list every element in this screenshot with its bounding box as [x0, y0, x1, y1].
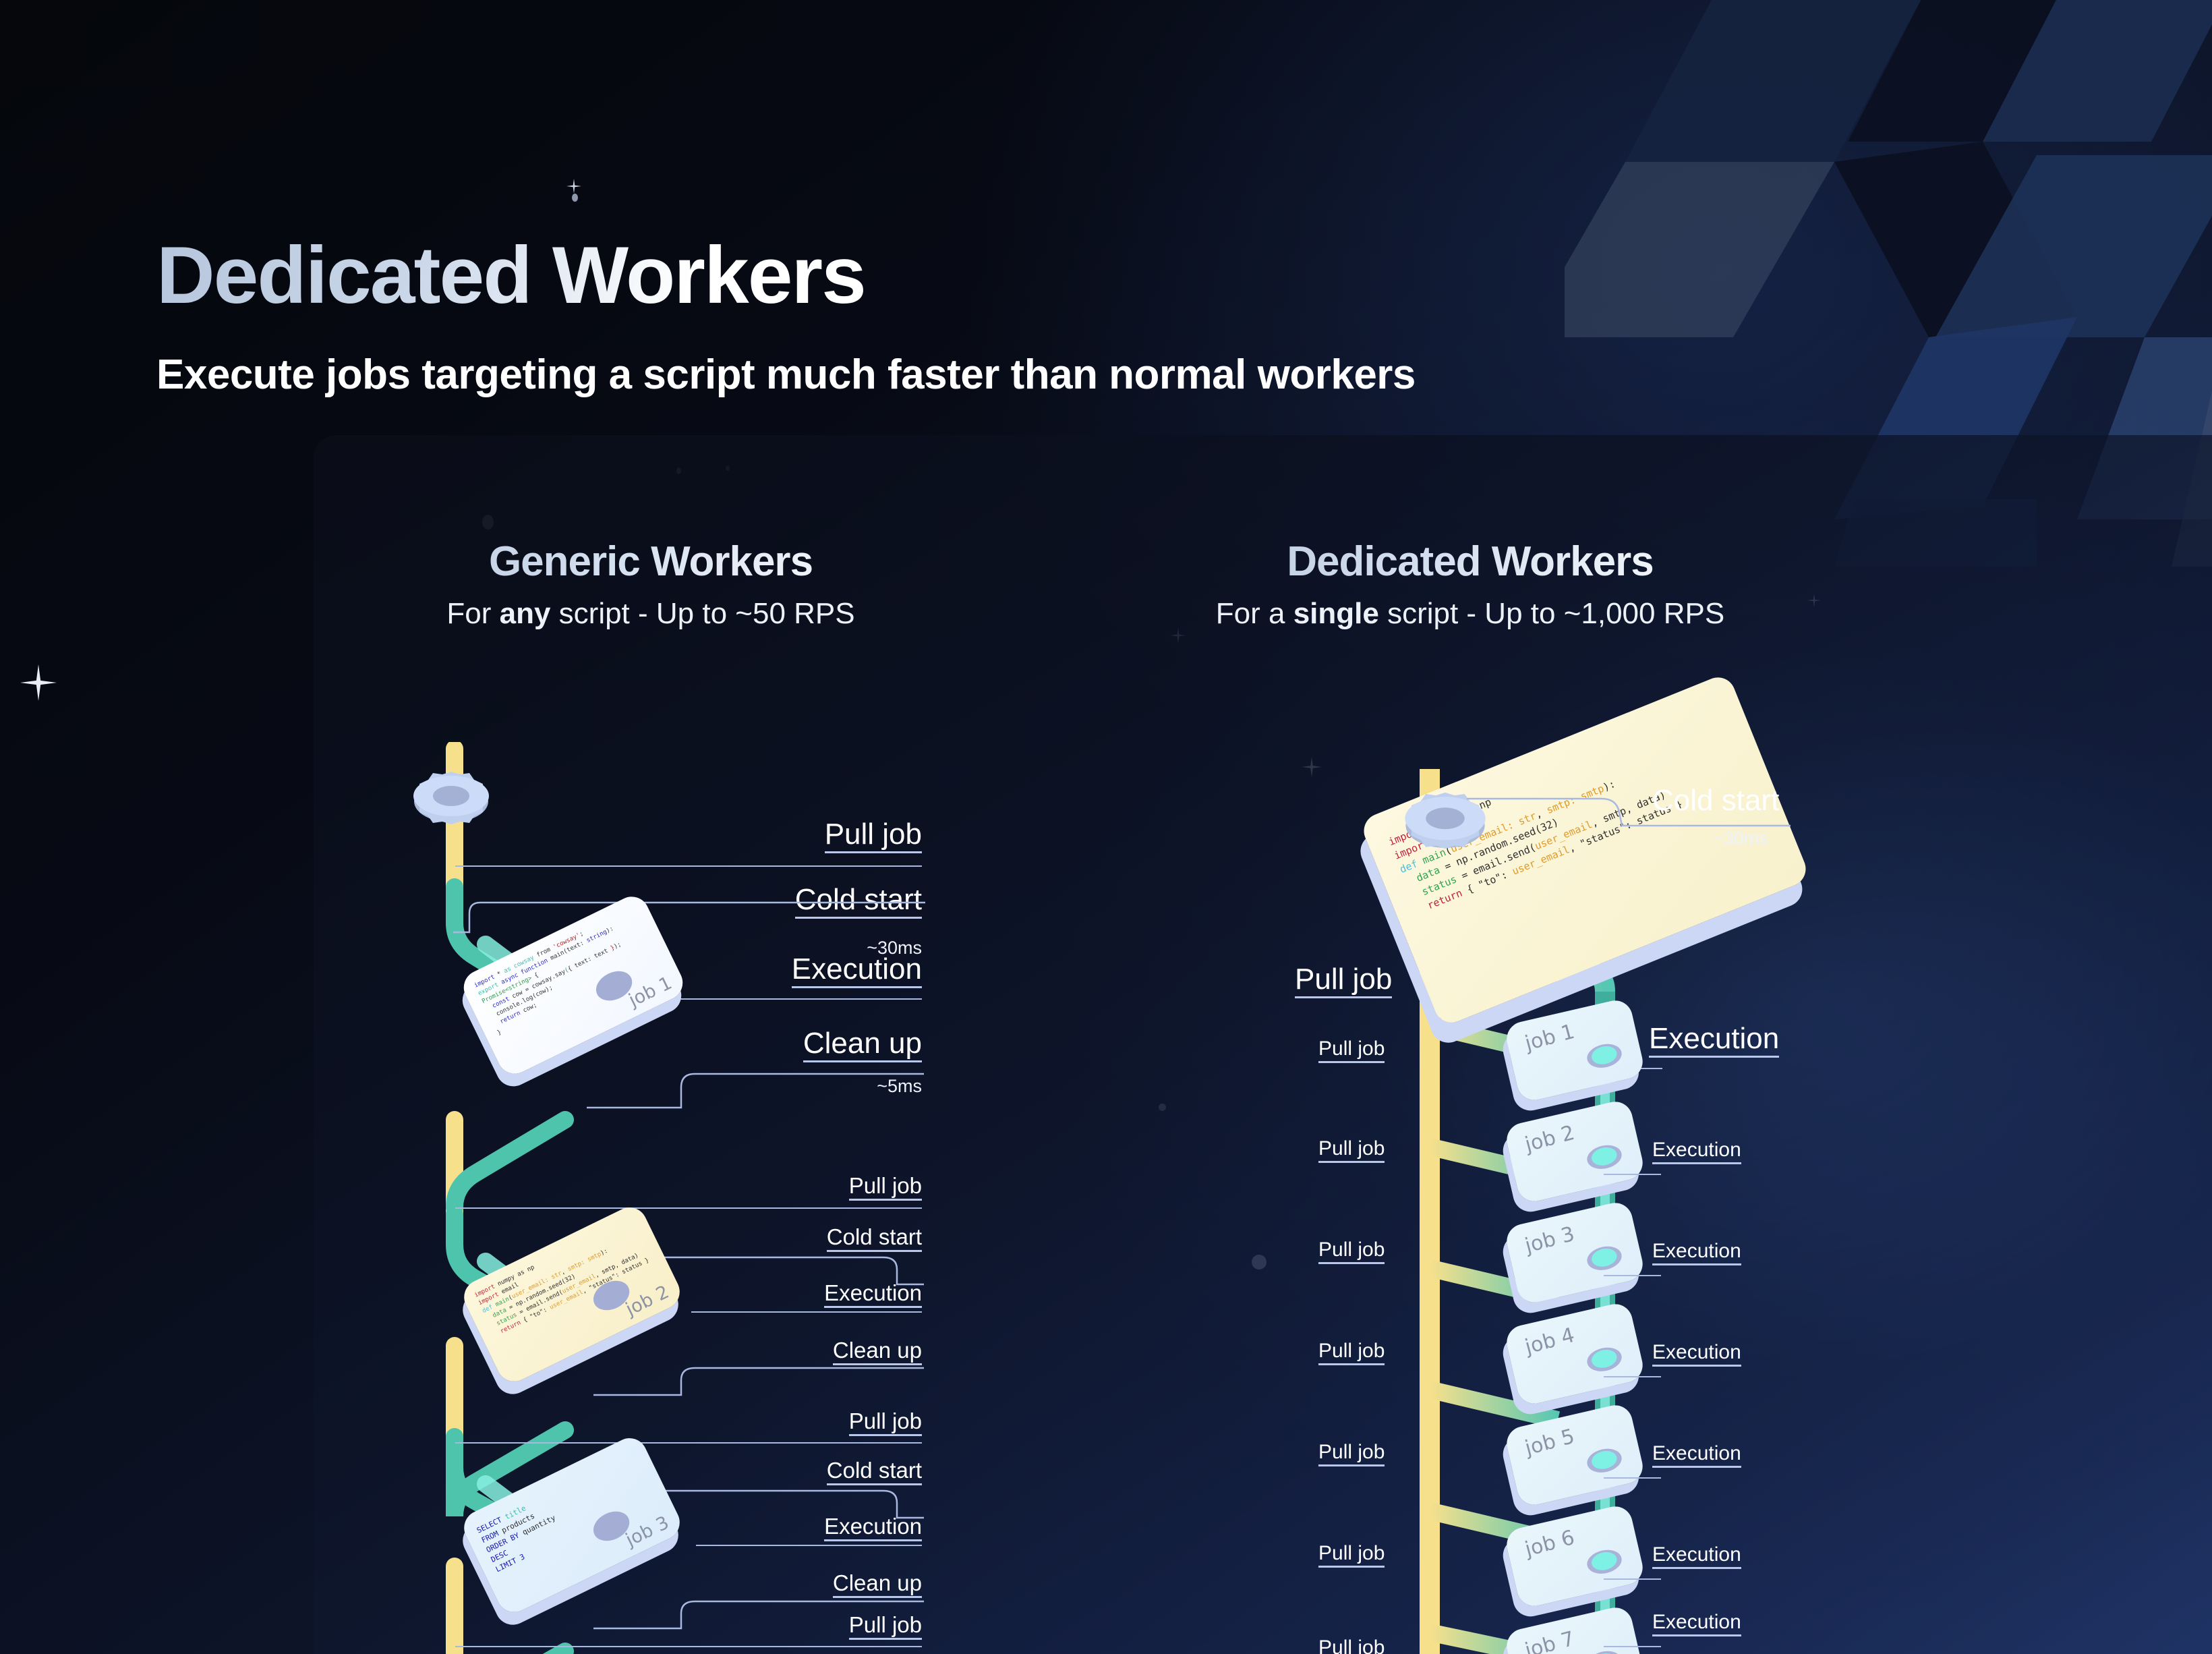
connector-line: [455, 1646, 922, 1647]
connector-line: [691, 1311, 922, 1313]
connector-line: [587, 1073, 924, 1110]
mini-job-port-3: [1585, 1243, 1624, 1274]
infographic-canvas: Dedicated Workers Execute jobs targeting…: [0, 0, 2212, 1654]
mini-job-port-4: [1585, 1344, 1624, 1375]
column-subtitle-generic: For any script - Up to ~50 RPS: [371, 597, 931, 631]
connector-line: [455, 865, 922, 867]
sparkle-icon: [20, 664, 57, 704]
dedicated-pull-job-1: Pull job: [1318, 1039, 1385, 1063]
dedicated-execution-main: Execution: [1649, 1024, 1779, 1058]
dedicated-pull-job-5: Pull job: [1318, 1442, 1385, 1466]
mini-job-name-3: job 3: [1523, 1223, 1577, 1257]
mini-job-port-6: [1585, 1547, 1624, 1577]
connector-line: [453, 897, 925, 938]
connector-line: [1604, 1646, 1661, 1647]
dedicated-execution-3: Execution: [1652, 1241, 1741, 1265]
step-label-execution-2: Execution: [824, 1282, 922, 1308]
mini-job-name-5: job 5: [1523, 1425, 1577, 1460]
decorative-dot: [572, 194, 578, 202]
connector-line: [455, 1207, 922, 1209]
mini-job-name-6: job 6: [1523, 1527, 1577, 1561]
column-title-generic: Generic Workers: [371, 540, 931, 583]
mini-job-name-4: job 4: [1523, 1324, 1577, 1359]
dedicated-pull-job-main: Pull job: [1295, 965, 1392, 998]
step-label-pull-job-2: Pull job: [849, 1174, 922, 1201]
step-label-pull-job-4: Pull job: [849, 1614, 922, 1640]
page-subtitle: Execute jobs targeting a script much fas…: [156, 351, 1416, 399]
step-label-clean-up-3: Clean up: [833, 1572, 922, 1598]
step-label-pull-job-1: Pull job: [825, 820, 922, 853]
connector-line: [1604, 1477, 1661, 1479]
connector-line: [1604, 1578, 1661, 1580]
mini-job-port-5: [1585, 1446, 1624, 1476]
connector-line: [593, 1365, 924, 1396]
connector-line: [455, 1442, 922, 1444]
dedicated-execution-5: Execution: [1652, 1444, 1741, 1468]
column-header-dedicated: Dedicated Workers For a single script - …: [1167, 540, 1774, 631]
dedicated-execution-2: Execution: [1652, 1140, 1741, 1164]
page-title: Dedicated Workers: [156, 235, 865, 316]
dedicated-pull-job-7: Pull job: [1318, 1638, 1385, 1654]
mini-job-name-7: job 7: [1523, 1628, 1577, 1654]
connector-line: [696, 1545, 922, 1546]
connector-line: [1604, 1174, 1661, 1175]
dedicated-cold-start-detail: ~30ms: [1713, 828, 1768, 849]
dedicated-pull-job-2: Pull job: [1318, 1139, 1385, 1163]
dedicated-pull-job-6: Pull job: [1318, 1543, 1385, 1568]
step-detail-clean-up-1: ~5ms: [877, 1076, 922, 1097]
gear-icon: [410, 762, 492, 828]
mini-job-port-1: [1585, 1041, 1624, 1071]
dedicated-pull-job-4: Pull job: [1318, 1341, 1385, 1365]
column-header-generic: Generic Workers For any script - Up to ~…: [371, 540, 931, 631]
dedicated-execution-4: Execution: [1652, 1342, 1741, 1367]
connector-line: [674, 998, 922, 1000]
step-label-execution-1: Execution: [792, 954, 922, 988]
dedicated-pull-job-3: Pull job: [1318, 1240, 1385, 1264]
step-label-clean-up-2: Clean up: [833, 1339, 922, 1365]
mini-job-name-1: job 1: [1523, 1021, 1577, 1055]
step-label-execution-3: Execution: [824, 1515, 922, 1541]
connector-line: [1604, 1376, 1661, 1377]
mini-job-name-2: job 2: [1523, 1122, 1577, 1156]
column-title-dedicated: Dedicated Workers: [1167, 540, 1774, 583]
step-label-cold-start-2: Cold start: [827, 1226, 922, 1252]
step-label-clean-up-1: Clean up: [803, 1029, 922, 1062]
step-label-pull-job-3: Pull job: [849, 1410, 922, 1436]
mini-job-port-2: [1585, 1142, 1624, 1172]
dedicated-execution-7: Execution: [1652, 1612, 1741, 1636]
column-subtitle-dedicated: For a single script - Up to ~1,000 RPS: [1167, 597, 1774, 631]
dedicated-execution-6: Execution: [1652, 1545, 1741, 1569]
mini-job-port-7: [1585, 1648, 1624, 1654]
step-label-cold-start-3: Cold start: [827, 1459, 922, 1485]
connector-line: [1604, 1275, 1661, 1276]
sparkle-icon: [566, 179, 581, 197]
